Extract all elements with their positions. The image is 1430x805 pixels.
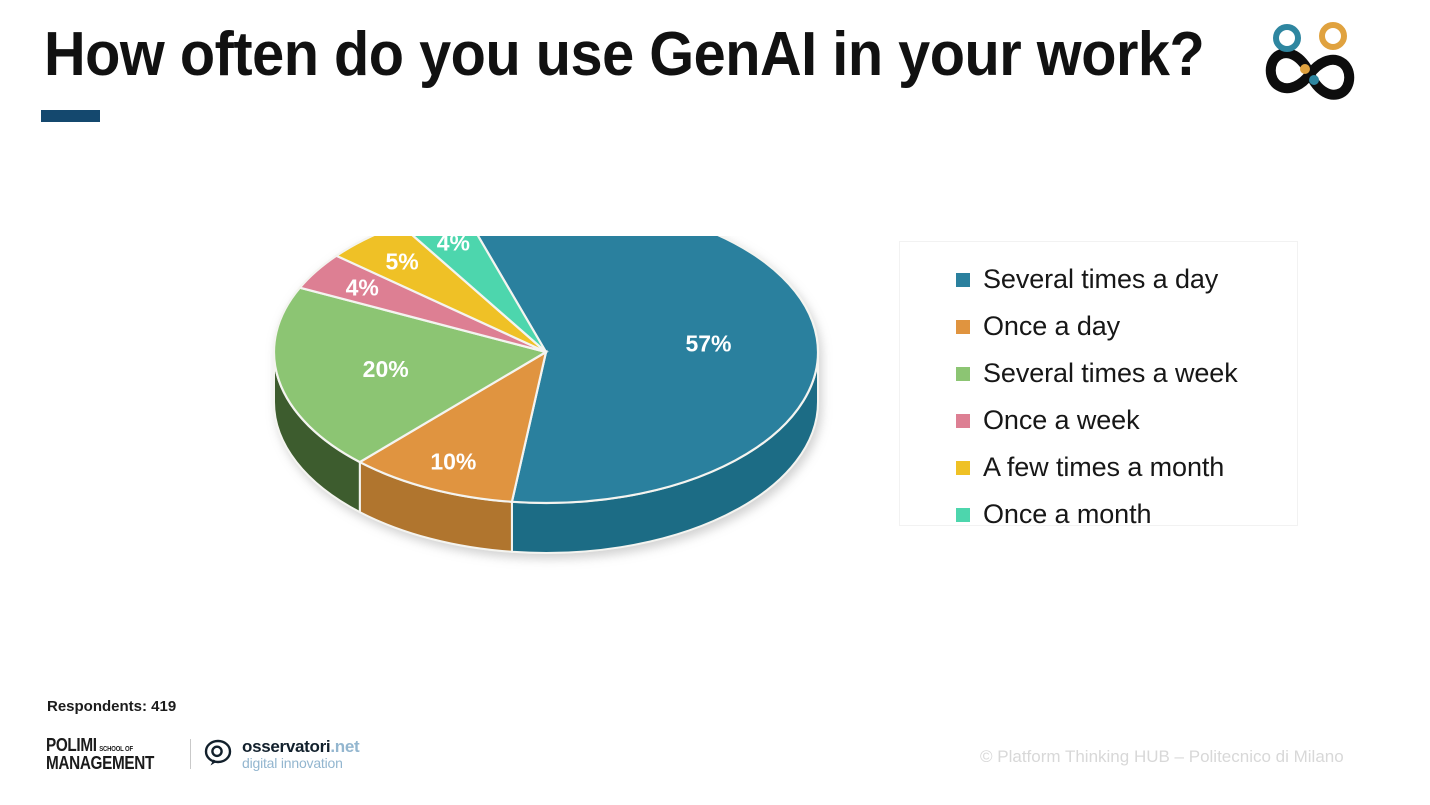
speech-bubble-icon [204, 737, 234, 772]
legend-item-once-a-day[interactable]: Once a day [956, 303, 1297, 350]
legend-item-label: Once a day [983, 313, 1120, 340]
ring-teal-icon [1276, 27, 1298, 49]
pie-slice-label: 4% [437, 236, 470, 256]
legend-swatch [956, 508, 970, 522]
osservatori-tagline: digital innovation [242, 756, 359, 771]
legend-item-label: Several times a week [983, 360, 1238, 387]
pie-slice-label: 57% [685, 330, 731, 356]
respondents-note: Respondents: 419 [47, 698, 176, 715]
legend-swatch [956, 367, 970, 381]
osservatori-logo: osservatori.net digital innovation [204, 737, 359, 772]
infinity-stroke [1271, 53, 1350, 95]
osservatori-name: osservatori [242, 737, 330, 756]
legend-swatch [956, 461, 970, 475]
footer-logos: POLIMI SCHOOL OF MANAGEMENT osservatori.… [46, 736, 359, 772]
legend-item-several-times-a-day[interactable]: Several times a day [956, 256, 1297, 303]
pie-slice-label: 20% [363, 356, 409, 382]
legend-swatch [956, 273, 970, 287]
legend-swatch [956, 320, 970, 334]
legend-item-label: Once a month [983, 501, 1151, 528]
polimi-logo-line1: POLIMI SCHOOL OF [46, 736, 154, 754]
pie-slice-label: 10% [430, 448, 476, 474]
dot-orange-icon [1300, 64, 1310, 74]
ring-orange-icon [1322, 25, 1344, 47]
legend-item-label: A few times a month [983, 454, 1224, 481]
chart-legend: Several times a day Once a day Several t… [899, 241, 1298, 526]
polimi-logo-schoolof: SCHOOL OF [99, 746, 133, 753]
legend-item-label: Several times a day [983, 266, 1218, 293]
legend-item-label: Once a week [983, 407, 1139, 434]
dot-teal-icon [1309, 75, 1319, 85]
pie-slice-label: 5% [385, 248, 418, 274]
legend-swatch [956, 414, 970, 428]
legend-item-once-a-week[interactable]: Once a week [956, 397, 1297, 444]
legend-item-a-few-times-a-month[interactable]: A few times a month [956, 444, 1297, 491]
pie-slice-label: 4% [346, 274, 379, 300]
legend-item-once-a-month[interactable]: Once a month [956, 491, 1297, 538]
osservatori-tld: .net [330, 737, 359, 756]
osservatori-logo-text: osservatori.net digital innovation [242, 738, 359, 771]
page-title: How often do you use GenAI in your work? [44, 22, 1204, 87]
logo-divider [190, 739, 191, 769]
infinity-logo [1255, 22, 1365, 104]
polimi-logo-line2: MANAGEMENT [46, 754, 154, 772]
pie-chart: 57%10%20%4%5%4% [258, 236, 838, 581]
osservatori-logo-line1: osservatori.net [242, 738, 359, 756]
legend-item-several-times-a-week[interactable]: Several times a week [956, 350, 1297, 397]
polimi-logo: POLIMI SCHOOL OF MANAGEMENT [46, 736, 173, 772]
copyright-note: © Platform Thinking HUB – Politecnico di… [980, 747, 1344, 767]
polimi-logo-name: POLIMI [46, 736, 97, 754]
title-accent-bar [41, 110, 100, 122]
